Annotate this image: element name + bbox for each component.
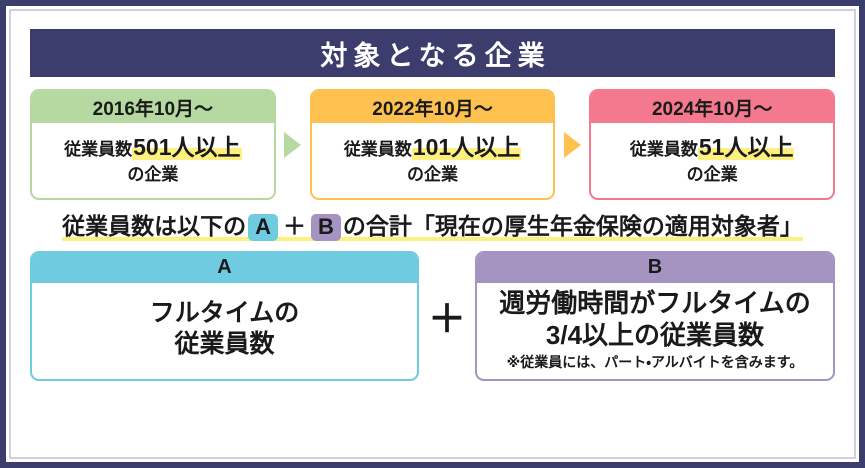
content-area: 対象となる企業 2016年10月〜 従業員数501人以上 の企業 2022年10… <box>16 16 849 454</box>
page-title: 対象となる企業 <box>314 34 550 73</box>
triangle-right-icon <box>284 132 301 158</box>
timeline-requirement-line: 従業員数101人以上 <box>318 133 548 162</box>
timeline-card-body: 従業員数501人以上 の企業 <box>32 123 274 198</box>
employee-count-definition: 従業員数は以下のA＋Bの合計「現在の厚生年金保険の適用対象者」 <box>30 214 835 241</box>
panel-b: B 週労働時間がフルタイムの 3/4以上の従業員数 ※従業員には、パート・アルバ… <box>475 251 835 381</box>
definition-suffix-text: の合計「現在の厚生年金保険の適用対象者」 <box>343 213 803 241</box>
panel-a-line1: フルタイムの <box>150 298 300 329</box>
panel-a-line2: 従業員数 <box>150 329 300 360</box>
ab-panels-row: A フルタイムの 従業員数 ＋ B 週労働時間がフルタイムの 3/ <box>30 251 835 381</box>
timeline-suffix-label: の企業 <box>597 164 827 186</box>
timeline-arrow-2 <box>555 89 589 200</box>
page-title-bar: 対象となる企業 <box>30 29 835 77</box>
panel-b-header: B <box>477 253 833 283</box>
panel-a-label: A <box>217 256 231 279</box>
panel-b-note: ※従業員には、パート・アルバイトを含みます。 <box>507 354 804 371</box>
timeline-suffix-label: の企業 <box>38 164 268 186</box>
panel-a-header: A <box>32 253 417 283</box>
timeline-threshold-highlight: 101人以上 <box>412 134 521 160</box>
timeline-card-2024: 2024年10月〜 従業員数51人以上 の企業 <box>589 89 835 200</box>
timeline-row: 2016年10月〜 従業員数501人以上 の企業 2022年10月〜 従業員数1… <box>30 89 835 200</box>
timeline-period-label: 2016年10月〜 <box>93 94 213 121</box>
panel-a-body: フルタイムの 従業員数 <box>32 283 417 379</box>
timeline-period-label: 2022年10月〜 <box>372 94 492 121</box>
definition-plus-symbol: ＋ <box>280 213 309 241</box>
panel-a-description: フルタイムの 従業員数 <box>150 298 300 360</box>
panels-plus-symbol: ＋ <box>419 251 475 381</box>
panel-a: A フルタイムの 従業員数 <box>30 251 419 381</box>
timeline-card-body: 従業員数101人以上 の企業 <box>312 123 554 198</box>
triangle-right-icon <box>564 132 581 158</box>
timeline-card-header: 2024年10月〜 <box>591 91 833 123</box>
timeline-arrow-1 <box>276 89 310 200</box>
timeline-card-header: 2016年10月〜 <box>32 91 274 123</box>
timeline-prefix-label: 従業員数 <box>344 140 412 159</box>
timeline-requirement-line: 従業員数501人以上 <box>38 133 268 162</box>
timeline-card-2016: 2016年10月〜 従業員数501人以上 の企業 <box>30 89 276 200</box>
timeline-card-body: 従業員数51人以上 の企業 <box>591 123 833 198</box>
timeline-card-header: 2022年10月〜 <box>312 91 554 123</box>
timeline-requirement-line: 従業員数51人以上 <box>597 133 827 162</box>
badge-b: B <box>311 214 341 241</box>
panel-b-label: B <box>648 256 662 279</box>
timeline-threshold-highlight: 51人以上 <box>698 134 795 160</box>
infographic-page: 対象となる企業 2016年10月〜 従業員数501人以上 の企業 2022年10… <box>0 0 865 468</box>
definition-prefix-text: 従業員数は以下の <box>62 213 246 241</box>
timeline-threshold-highlight: 501人以上 <box>132 134 241 160</box>
timeline-suffix-label: の企業 <box>318 164 548 186</box>
timeline-card-2022: 2022年10月〜 従業員数101人以上 の企業 <box>310 89 556 200</box>
badge-a: A <box>248 214 278 241</box>
panel-b-line1: 週労働時間がフルタイムの <box>499 287 810 319</box>
panel-b-line2: 3/4以上の従業員数 <box>499 319 810 351</box>
panel-b-description: 週労働時間がフルタイムの 3/4以上の従業員数 <box>499 287 810 351</box>
timeline-period-label: 2024年10月〜 <box>652 94 772 121</box>
timeline-prefix-label: 従業員数 <box>64 140 132 159</box>
panel-b-body: 週労働時間がフルタイムの 3/4以上の従業員数 ※従業員には、パート・アルバイト… <box>477 283 833 379</box>
timeline-prefix-label: 従業員数 <box>630 140 698 159</box>
